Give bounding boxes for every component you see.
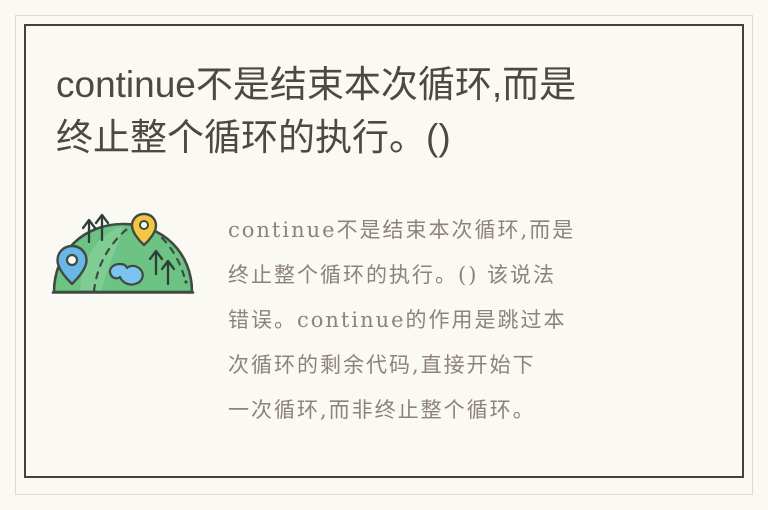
title-line-2: 终止整个循环的执行。() bbox=[56, 111, 696, 164]
body-line-5: 一次循环,而非终止整个循环。 bbox=[228, 388, 720, 433]
map-hill-illustration-icon bbox=[50, 200, 200, 298]
title-line-1: continue不是结束本次循环,而是 bbox=[56, 58, 696, 111]
page-root: continue不是结束本次循环,而是 终止整个循环的执行。() bbox=[0, 0, 768, 510]
body-line-4: 次循环的剩余代码,直接开始下 bbox=[228, 343, 720, 388]
content-row: continue不是结束本次循环,而是 终止整个循环的执行。() 该说法 错误。… bbox=[50, 200, 720, 433]
body-line-1: continue不是结束本次循环,而是 bbox=[228, 208, 720, 253]
answer-body: continue不是结束本次循环,而是 终止整个循环的执行。() 该说法 错误。… bbox=[200, 200, 720, 433]
body-line-3: 错误。continue的作用是跳过本 bbox=[228, 298, 720, 343]
body-line-2: 终止整个循环的执行。() 该说法 bbox=[228, 253, 720, 298]
page-title: continue不是结束本次循环,而是 终止整个循环的执行。() bbox=[56, 58, 696, 164]
